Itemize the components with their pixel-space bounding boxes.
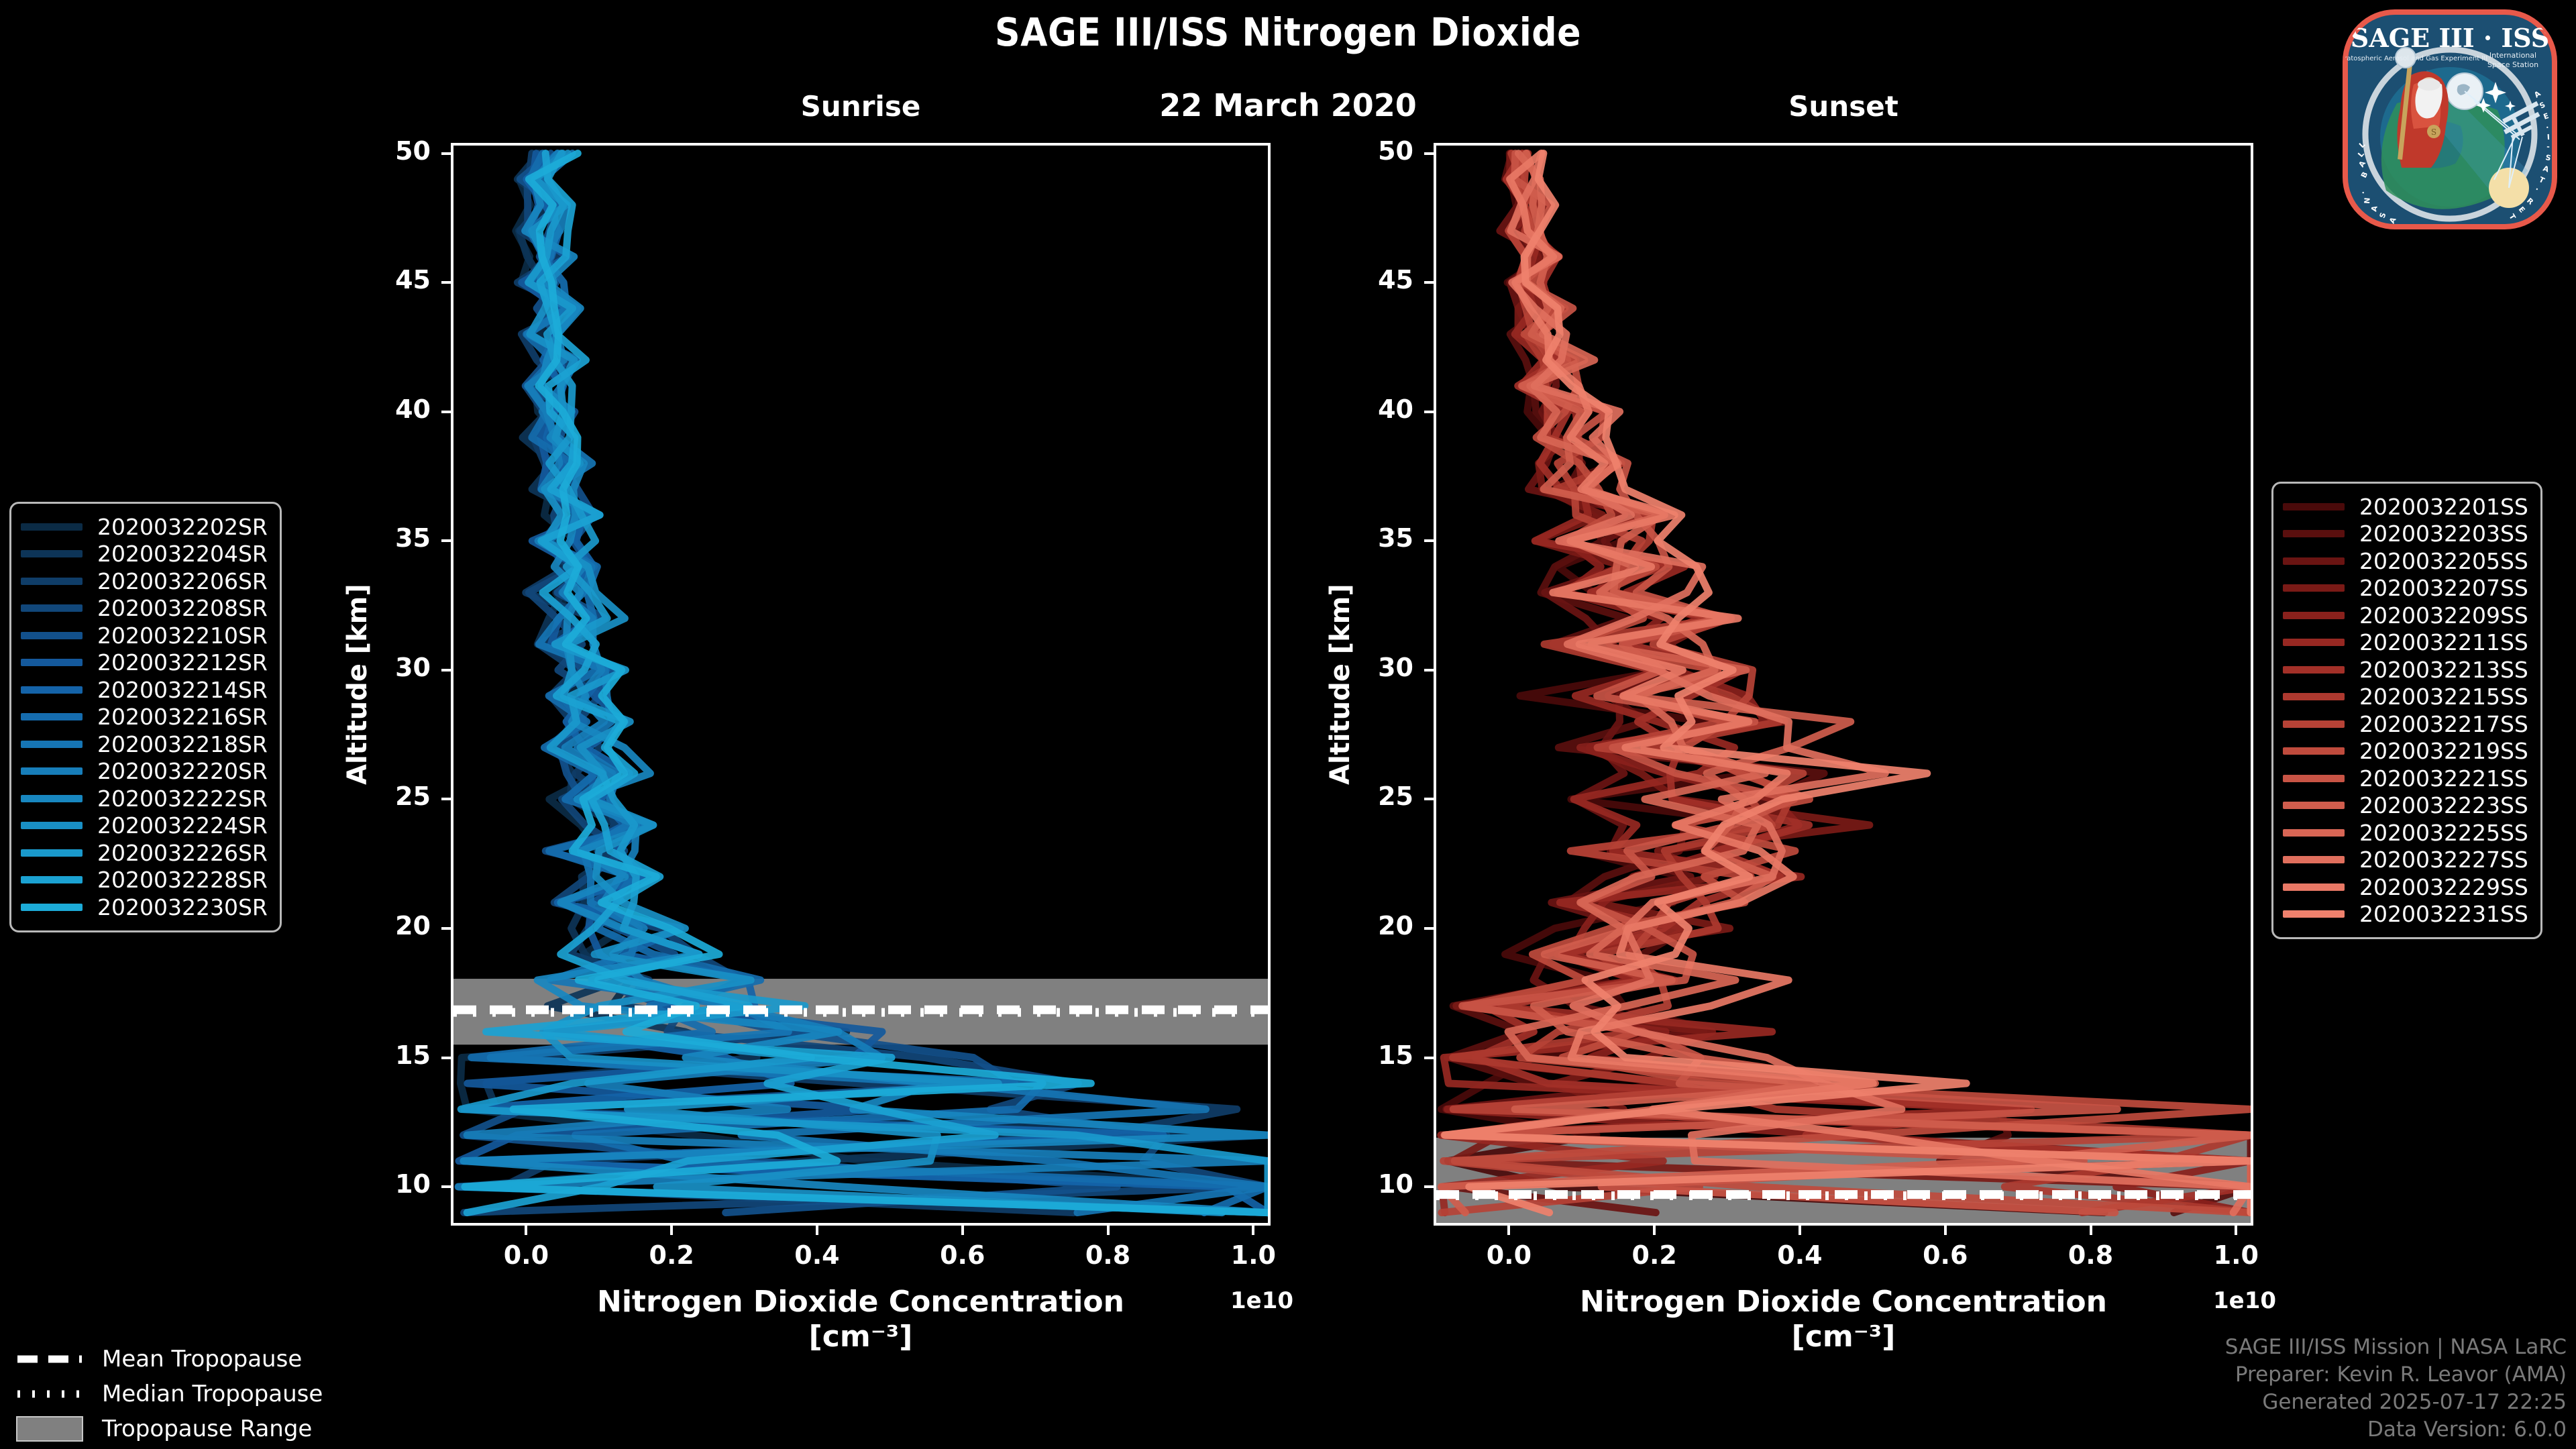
x-tick-mark [1944,1223,1947,1235]
legend-label: 2020032231SS [2359,901,2528,927]
sunrise-legend-item[interactable]: 2020032208SR [21,595,268,623]
legend-label: 2020032220SR [97,758,268,784]
legend-label: 2020032207SS [2359,575,2528,601]
y-tick-label-15: 15 [1353,1040,1413,1070]
legend-label: 2020032226SR [97,840,268,866]
y-tick-mark [441,669,452,672]
y-tick-mark [1424,927,1435,930]
sunset-legend-item[interactable]: 2020032201SS [2283,493,2528,521]
legend-label: 2020032203SS [2359,521,2528,547]
x-tick-mark [670,1223,673,1235]
legend-label: 2020032228SR [97,867,268,893]
sunset-legend-item[interactable]: 2020032231SS [2283,901,2528,928]
y-tick-label-10: 10 [370,1169,431,1199]
y-tick-label-20: 20 [370,911,431,941]
legend-label: 2020032213SS [2359,657,2528,683]
x-axis-offset-text: 1e10 [2213,1287,2276,1314]
x-tick-label-0.4: 0.4 [1753,1240,1847,1270]
x-tick-mark [2090,1223,2092,1235]
legend-label: 2020032210SR [97,623,268,649]
x-tick-label-1.0: 1.0 [2189,1240,2283,1270]
y-tick-label-40: 40 [1353,394,1413,424]
x-tick-label-0.2: 0.2 [625,1240,718,1270]
legend-color-swatch [2283,557,2345,565]
legend-color-swatch [21,876,83,883]
y-tick-label-40: 40 [370,394,431,424]
svg-text:N: N [2363,197,2372,204]
legend-label: 2020032206SR [97,568,268,594]
legend-label: 2020032229SS [2359,874,2528,900]
legend-color-swatch [21,523,83,531]
x-tick-label-0.4: 0.4 [770,1240,864,1270]
y-tick-label-10: 10 [1353,1169,1413,1199]
sunset-legend-item[interactable]: 2020032227SS [2283,847,2528,874]
credit-mission: SAGE III/ISS Mission | NASA LaRC [2225,1334,2567,1361]
y-tick-label-35: 35 [1353,523,1413,553]
y-tick-mark [1424,669,1435,672]
credit-preparer: Preparer: Kevin R. Leavor (AMA) [2225,1361,2567,1389]
sunset-legend-item[interactable]: 2020032211SS [2283,629,2528,657]
x-tick-mark [1107,1223,1110,1235]
y-tick-label-30: 30 [1353,653,1413,682]
y-tick-label-45: 45 [1353,265,1413,294]
y-tick-label-25: 25 [370,782,431,811]
svg-text:I: I [2546,133,2550,142]
sunrise-legend-item[interactable]: 2020032216SR [21,704,268,731]
credit-generated: Generated 2025-07-17 22:25 [2225,1389,2567,1416]
panel-label-sunrise: Sunrise [451,90,1271,123]
legend-label: 2020032212SR [97,649,268,676]
sunset-legend-item[interactable]: 2020032221SS [2283,765,2528,792]
legend-label: 2020032227SS [2359,847,2528,873]
y-tick-mark [1424,411,1435,413]
y-tick-label-20: 20 [1353,911,1413,941]
legend-label: 2020032209SS [2359,602,2528,629]
y-tick-mark [1424,1057,1435,1059]
logo-title: SAGE III · ISS [2351,23,2549,53]
x-tick-label-0.0: 0.0 [1462,1240,1556,1270]
legend-label: 2020032208SR [97,595,268,621]
legend-color-swatch [21,632,83,639]
x-axis-label-line2: [cm⁻³] [1468,1320,2219,1354]
y-axis-label: Altitude [km] [1325,584,1356,785]
sunset-legend[interactable]: 2020032201SS2020032203SS2020032205SS2020… [2271,482,2542,939]
legend-color-swatch [2283,666,2345,674]
sunset-legend-item[interactable]: 2020032203SS [2283,521,2528,548]
sunrise-legend-item[interactable]: 2020032218SR [21,731,268,758]
sunset-legend-item[interactable]: 2020032229SS [2283,873,2528,901]
legend-color-swatch [2283,503,2345,511]
y-tick-mark [1424,1185,1435,1188]
legend-color-swatch [2283,639,2345,646]
legend-color-swatch [21,849,83,857]
y-tick-mark [441,927,452,930]
sunset-legend-item[interactable]: 2020032205SS [2283,547,2528,575]
x-tick-label-0.8: 0.8 [1061,1240,1155,1270]
sunrise-legend-item[interactable]: 2020032204SR [21,541,268,568]
legend-color-swatch [21,904,83,911]
legend-color-swatch [21,741,83,748]
x-axis-label: Nitrogen Dioxide Concentration[cm⁻³] [485,1285,1236,1354]
legend-label: 2020032230SR [97,894,268,920]
x-tick-mark [816,1223,818,1235]
legend-label: 2020032217SS [2359,711,2528,737]
tropopause-legend-label: Tropopause Range [102,1415,312,1442]
svg-text:Space Station: Space Station [2487,60,2538,69]
legend-color-swatch [2283,612,2345,619]
legend-label: 2020032222SR [97,786,268,812]
x-tick-label-0.8: 0.8 [2044,1240,2138,1270]
x-tick-mark [1252,1223,1254,1235]
x-axis-label: Nitrogen Dioxide Concentration[cm⁻³] [1468,1285,2219,1354]
y-tick-mark [441,798,452,800]
y-tick-label-50: 50 [370,136,431,166]
x-axis-label-line2: [cm⁻³] [485,1320,1236,1354]
svg-text:International: International [2489,51,2536,60]
legend-color-swatch [2283,530,2345,537]
y-tick-label-30: 30 [370,653,431,682]
legend-label: 2020032215SS [2359,684,2528,710]
tropopause-legend-key [12,1389,87,1399]
legend-color-swatch [2283,747,2345,755]
legend-color-swatch [2283,883,2345,891]
y-tick-label-35: 35 [370,523,431,553]
legend-color-swatch [2283,720,2345,728]
credits-block: SAGE III/ISS Mission | NASA LaRC Prepare… [2225,1334,2567,1444]
legend-color-swatch [2283,856,2345,863]
tropopause-legend-item: Median Tropopause [12,1377,323,1411]
legend-color-swatch [2283,910,2345,918]
y-tick-label-25: 25 [1353,782,1413,811]
x-tick-label-0.2: 0.2 [1607,1240,1701,1270]
x-tick-label-0.6: 0.6 [916,1240,1010,1270]
page-title: SAGE III/ISS Nitrogen Dioxide [0,9,2576,55]
y-tick-mark [441,411,452,413]
tropopause-legend-label: Mean Tropopause [102,1346,302,1373]
x-tick-mark [2235,1223,2237,1235]
legend-color-swatch [21,550,83,557]
tropopause-legend-label: Median Tropopause [102,1381,323,1407]
legend-label: 2020032214SR [97,677,268,703]
y-tick-label-50: 50 [1353,136,1413,166]
tropopause-legend-key [12,1416,87,1442]
svg-text:-: - [2546,142,2550,151]
sage-iii-iss-mission-patch-logo: S B A L L · N A S A T E R · T A S - I [2333,3,2567,236]
legend-label: 2020032211SS [2359,629,2528,655]
sunset-legend-item[interactable]: 2020032219SS [2283,738,2528,765]
x-tick-label-0.0: 0.0 [479,1240,573,1270]
legend-color-swatch [2283,775,2345,782]
sunrise-legend[interactable]: 2020032202SR2020032204SR2020032206SR2020… [9,502,282,932]
legend-color-swatch [21,604,83,612]
sunset-legend-item[interactable]: 2020032225SS [2283,819,2528,847]
legend-color-swatch [21,713,83,720]
x-tick-mark [961,1223,964,1235]
sunrise-legend-item[interactable]: 2020032212SR [21,649,268,677]
tropopause-legend: Mean TropopauseMedian TropopauseTropopau… [12,1342,323,1446]
sunrise-legend-item[interactable]: 2020032224SR [21,812,268,840]
tropopause-legend-item: Tropopause Range [12,1411,323,1446]
sunset-legend-item[interactable]: 2020032215SS [2283,684,2528,711]
x-tick-label-0.6: 0.6 [1898,1240,1992,1270]
y-tick-mark [1424,539,1435,542]
x-tick-label-1.0: 1.0 [1206,1240,1300,1270]
y-tick-mark [441,539,452,542]
x-tick-mark [1799,1223,1801,1235]
x-axis-offset-text: 1e10 [1230,1287,1293,1314]
y-tick-mark [1424,281,1435,284]
sunrise-legend-item[interactable]: 2020032210SR [21,622,268,649]
legend-color-swatch [21,767,83,775]
legend-color-swatch [2283,829,2345,837]
sunset-plot-area [1434,143,2253,1226]
legend-label: 2020032219SS [2359,738,2528,764]
sunset-legend-item[interactable]: 2020032207SS [2283,575,2528,602]
tropopause-legend-key [12,1354,87,1364]
legend-label: 2020032204SR [97,541,268,567]
y-tick-mark [441,152,452,155]
legend-label: 2020032221SS [2359,765,2528,792]
sunset-legend-item[interactable]: 2020032213SS [2283,656,2528,684]
legend-label: 2020032201SS [2359,494,2528,520]
x-tick-mark [1507,1223,1510,1235]
y-tick-label-15: 15 [370,1040,431,1070]
sunset-legend-item[interactable]: 2020032223SS [2283,792,2528,820]
legend-color-swatch [21,795,83,802]
sunrise-legend-item[interactable]: 2020032226SR [21,839,268,867]
y-axis-label: Altitude [km] [342,584,373,785]
legend-color-swatch [21,578,83,585]
sunset-legend-item[interactable]: 2020032209SS [2283,602,2528,629]
sunset-legend-item[interactable]: 2020032217SS [2283,710,2528,738]
y-tick-mark [441,1185,452,1188]
y-tick-mark [441,281,452,284]
x-tick-mark [1653,1223,1656,1235]
logo-subtitle-left: Stratospheric Aerosol and Gas Experiment… [2337,55,2487,62]
sunrise-legend-item[interactable]: 2020032230SR [21,894,268,921]
legend-color-swatch [2283,693,2345,700]
legend-label: 2020032218SR [97,731,268,757]
legend-label: 2020032216SR [97,704,268,730]
sunrise-legend-item[interactable]: 2020032202SR [21,513,268,541]
sunrise-plot-area [451,143,1271,1226]
legend-label: 2020032202SR [97,514,268,540]
legend-label: 2020032205SS [2359,548,2528,574]
legend-color-swatch [21,686,83,694]
y-tick-mark [1424,152,1435,155]
panel-label-sunset: Sunset [1434,90,2253,123]
legend-color-swatch [21,822,83,829]
sunrise-legend-item[interactable]: 2020032214SR [21,676,268,704]
legend-label: 2020032224SR [97,812,268,839]
legend-color-swatch [2283,584,2345,592]
x-tick-mark [525,1223,527,1235]
legend-color-swatch [2283,802,2345,809]
y-tick-mark [1424,798,1435,800]
legend-color-swatch [21,659,83,666]
sunrise-legend-item[interactable]: 2020032222SR [21,785,268,812]
credit-data-version: Data Version: 6.0.0 [2225,1416,2567,1444]
sunrise-legend-item[interactable]: 2020032220SR [21,758,268,786]
svg-text:S: S [2431,127,2436,137]
x-axis-label-line1: Nitrogen Dioxide Concentration [1468,1285,2219,1320]
legend-label: 2020032225SS [2359,820,2528,846]
sunrise-legend-item[interactable]: 2020032228SR [21,867,268,894]
sunrise-legend-item[interactable]: 2020032206SR [21,568,268,595]
x-axis-label-line1: Nitrogen Dioxide Concentration [485,1285,1236,1320]
y-tick-mark [441,1057,452,1059]
legend-label: 2020032223SS [2359,792,2528,818]
y-tick-label-45: 45 [370,265,431,294]
tropopause-legend-item: Mean Tropopause [12,1342,323,1377]
